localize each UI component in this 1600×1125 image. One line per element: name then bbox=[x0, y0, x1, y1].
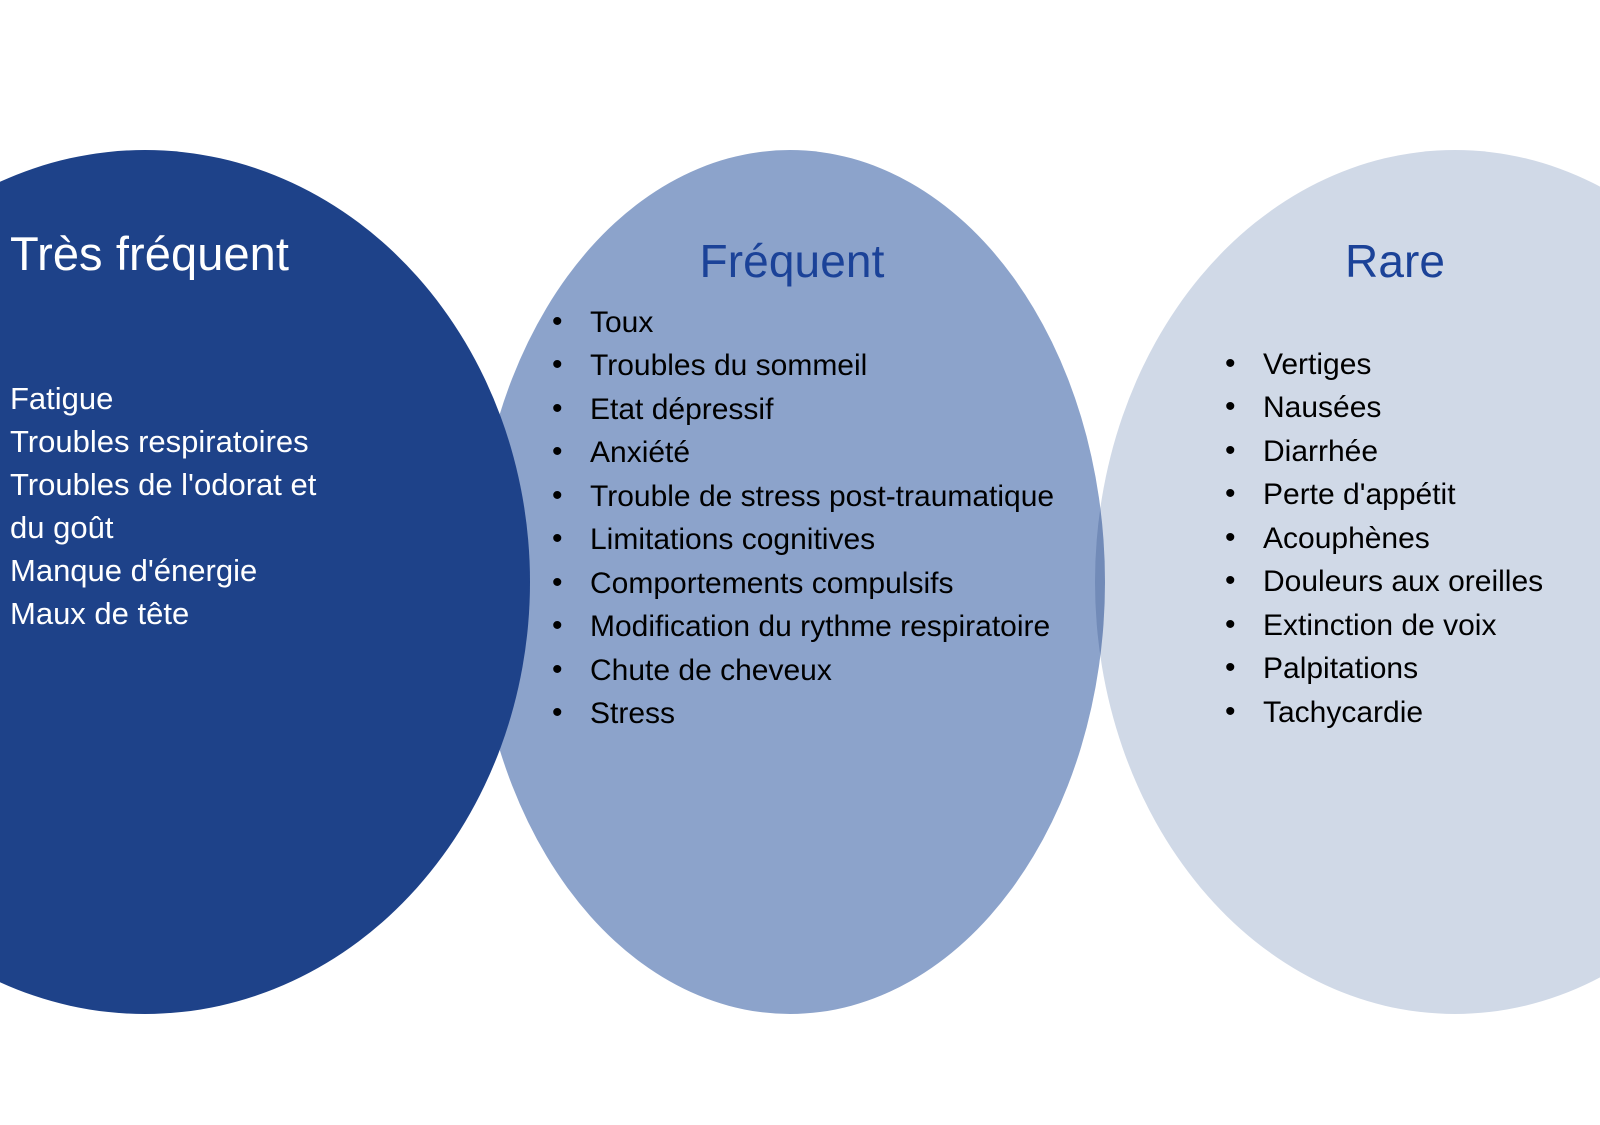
list-item: Modification du rythme respiratoire bbox=[552, 605, 1100, 649]
list-item: Toux bbox=[552, 301, 1100, 345]
group-frequent-title: Fréquent bbox=[500, 236, 1100, 287]
list-item: Extinction de voix bbox=[1225, 604, 1600, 648]
list-item: Etat dépressif bbox=[552, 388, 1100, 432]
list-item: Palpitations bbox=[1225, 647, 1600, 691]
group-very-frequent: Très fréquent Fatigue Troubles respirato… bbox=[0, 228, 470, 635]
list-item: Perte d'appétit bbox=[1225, 473, 1600, 517]
group-rare-title: Rare bbox=[1140, 236, 1600, 287]
list-item: Manque d'énergie bbox=[10, 549, 470, 592]
list-item: Douleurs aux oreilles bbox=[1225, 560, 1600, 604]
list-item: Acouphènes bbox=[1225, 517, 1600, 561]
list-item: Maux de tête bbox=[10, 592, 470, 635]
group-very-frequent-title: Très fréquent bbox=[0, 228, 470, 280]
venn-diagram: Très fréquent Fatigue Troubles respirato… bbox=[0, 0, 1600, 1125]
list-item: Limitations cognitives bbox=[552, 518, 1100, 562]
list-item: Chute de cheveux bbox=[552, 649, 1100, 693]
list-item: du goût bbox=[10, 506, 470, 549]
list-item: Nausées bbox=[1225, 386, 1600, 430]
group-frequent-list: Toux Troubles du sommeil Etat dépressif … bbox=[500, 301, 1100, 736]
group-frequent: Fréquent Toux Troubles du sommeil Etat d… bbox=[500, 236, 1100, 736]
list-item: Troubles de l'odorat et bbox=[10, 463, 470, 506]
group-very-frequent-list: Fatigue Troubles respiratoires Troubles … bbox=[0, 377, 470, 635]
list-item: Troubles respiratoires bbox=[10, 420, 470, 463]
list-item: Comportements compulsifs bbox=[552, 562, 1100, 606]
list-item: Troubles du sommeil bbox=[552, 344, 1100, 388]
group-rare-list: Vertiges Nausées Diarrhée Perte d'appéti… bbox=[1140, 343, 1600, 735]
group-rare: Rare Vertiges Nausées Diarrhée Perte d'a… bbox=[1140, 236, 1600, 734]
list-item: Trouble de stress post-traumatique bbox=[552, 475, 1100, 519]
list-item: Stress bbox=[552, 692, 1100, 736]
list-item: Vertiges bbox=[1225, 343, 1600, 387]
list-item: Fatigue bbox=[10, 377, 470, 420]
list-item: Diarrhée bbox=[1225, 430, 1600, 474]
list-item: Tachycardie bbox=[1225, 691, 1600, 735]
list-item: Anxiété bbox=[552, 431, 1100, 475]
